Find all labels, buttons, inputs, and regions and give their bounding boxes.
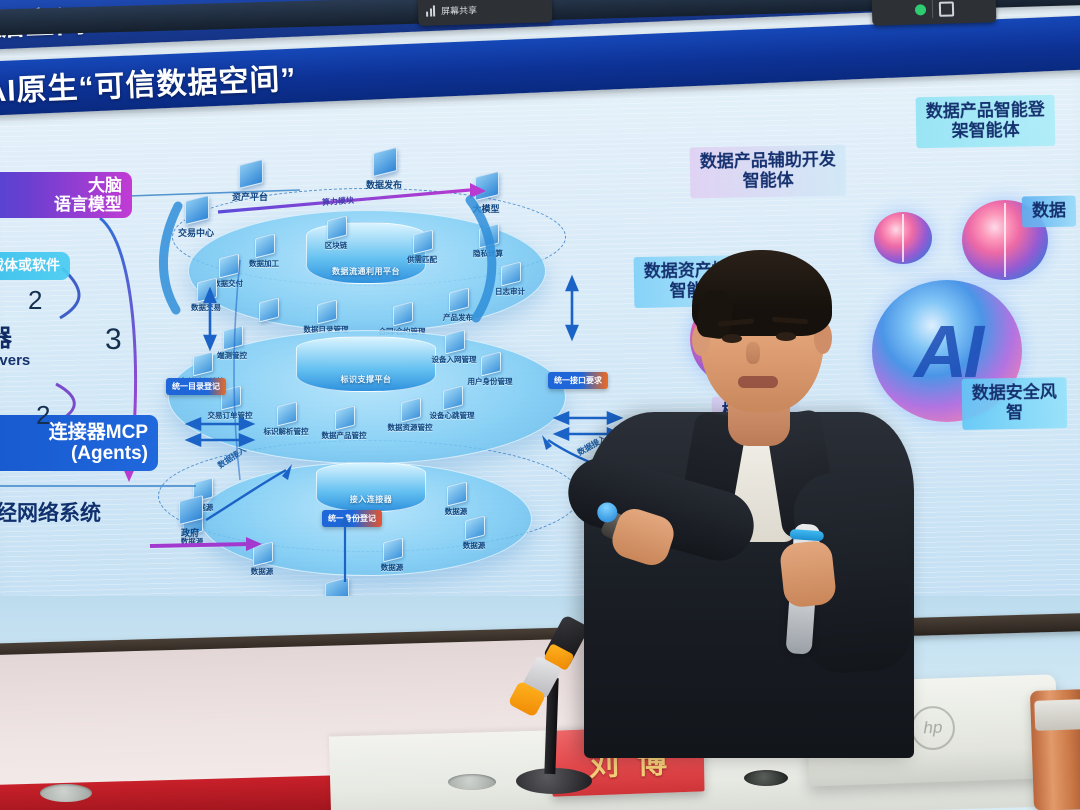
speaker-eye-right bbox=[776, 332, 796, 341]
speaker-hand-left bbox=[779, 539, 837, 608]
agent-data-r-line1: 数据 bbox=[1032, 201, 1066, 222]
label-connector: 连接器 bbox=[0, 318, 12, 353]
agent-label-product-shelf: 数据产品智能登 架智能体 bbox=[916, 95, 1056, 149]
agent-label-data-product-dev: 数据产品辅助开发 智能体 bbox=[690, 145, 847, 199]
mic-blue-band bbox=[789, 529, 824, 541]
pill-connector-mcp-agents: 连接器MCP (Agents) bbox=[0, 415, 158, 471]
agent-shelf-line2: 架智能体 bbox=[926, 120, 1045, 142]
agent-secrisk-line1: 数据安全风 bbox=[972, 382, 1057, 404]
pill-carrier-label: 载体或软件 bbox=[0, 258, 60, 274]
stop-square-icon[interactable] bbox=[938, 1, 953, 16]
desk-grommet-mid bbox=[448, 774, 496, 790]
signal-bars-icon bbox=[426, 5, 435, 16]
agent-dev-line2: 智能体 bbox=[700, 170, 836, 192]
presentation-photo: 数据流通利用平台 资产平台 数据发布 大模型 交易中心 bbox=[0, 0, 1080, 810]
agent-dev-line1: 数据产品辅助开发 bbox=[700, 150, 836, 172]
agent-secrisk-line2: 智 bbox=[972, 402, 1057, 424]
agent-label-data-right: 数据 bbox=[1022, 196, 1077, 228]
desk-grommet-left bbox=[40, 784, 92, 802]
step-number-2a: 2 bbox=[28, 285, 42, 316]
label-mcp-servers: MCP Servers bbox=[0, 352, 30, 369]
pill-brain-line2: 语言模型 bbox=[54, 195, 122, 214]
agent-shelf-line1: 数据产品智能登 bbox=[926, 100, 1045, 122]
pill-brain-language-model: 大脑 语言模型 bbox=[0, 172, 132, 218]
pill-agents-line1: 连接器MCP bbox=[49, 422, 148, 443]
toolbar-chip-record[interactable] bbox=[872, 0, 997, 26]
thermos-lid bbox=[1034, 699, 1080, 731]
pill-brain-line1: 大脑 bbox=[88, 176, 122, 195]
pill-carrier-or-software: 载体或软件 bbox=[0, 252, 70, 280]
toolbar-chip-share-label: 屏幕共享 bbox=[441, 3, 477, 17]
toolbar-divider bbox=[931, 0, 933, 18]
step-number-2b: 2 bbox=[36, 400, 50, 431]
speaker-nose bbox=[746, 342, 760, 364]
record-dot-icon[interactable] bbox=[914, 4, 925, 15]
thermos-cup bbox=[1030, 689, 1080, 810]
speaker-eye-left bbox=[722, 334, 742, 343]
pill-agents-line2: (Agents) bbox=[71, 443, 148, 464]
speaker-person bbox=[560, 236, 940, 756]
agent-label-data-security-risk: 数据安全风 智 bbox=[962, 377, 1068, 430]
step-number-3: 3 bbox=[105, 323, 122, 357]
toolbar-chip-share[interactable]: 屏幕共享 bbox=[418, 0, 553, 26]
speaker-hair bbox=[692, 250, 832, 336]
speaker-mouth bbox=[738, 376, 778, 388]
cable-grommet bbox=[744, 770, 788, 786]
label-neural-network-system: 的神经网络系统 bbox=[0, 497, 101, 527]
